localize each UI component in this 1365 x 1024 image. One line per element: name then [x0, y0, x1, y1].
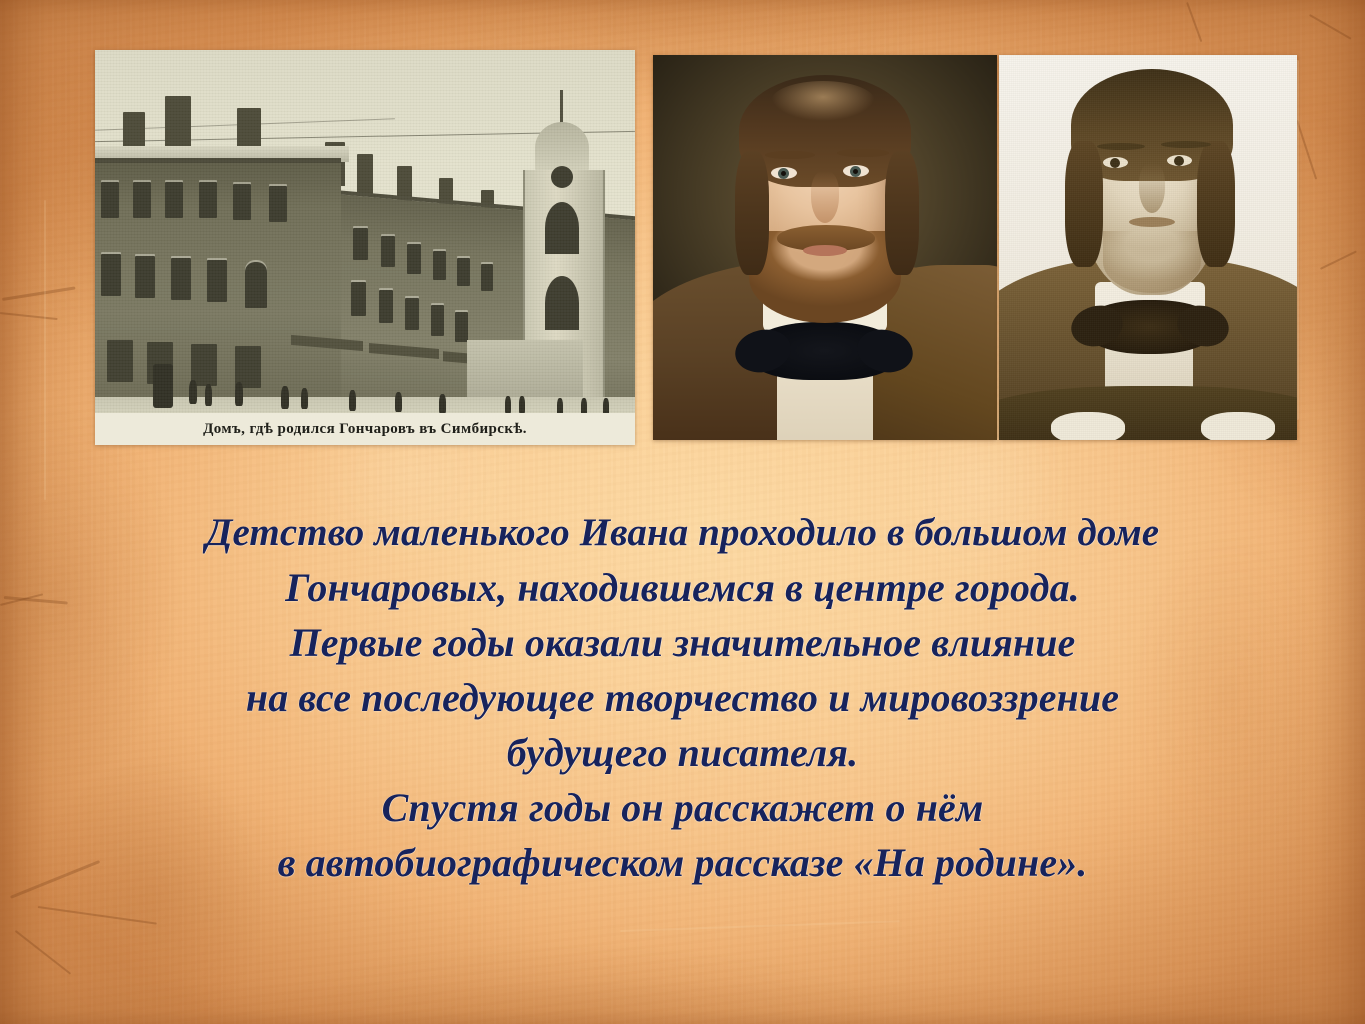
photo-film-grain [999, 55, 1297, 440]
portrait-eyebrow-right [837, 149, 889, 157]
paper-crease [44, 200, 46, 500]
portrait-hair-highlight [771, 81, 875, 121]
body-text-line: на все последующее творчество и мировозз… [60, 670, 1305, 725]
portrait-bow-tie [749, 322, 899, 380]
portrait-sideburn-right [885, 151, 919, 275]
sepia-photograph-goncharov [999, 55, 1297, 440]
body-text-line: будущего писателя. [60, 725, 1305, 780]
body-text-line: в автобиографическом рассказе «На родине… [60, 835, 1305, 890]
presentation-slide: Домъ, гдѣ родился Гончаровъ въ Симбирскѣ… [0, 0, 1365, 1024]
portrait-eyebrow-left [765, 151, 815, 159]
slide-body-text: Детство маленького Ивана проходило в бол… [60, 505, 1305, 890]
body-text-line: Детство маленького Ивана проходило в бол… [60, 505, 1305, 560]
postcard-film-grain [95, 50, 635, 445]
portrait-eye-left [771, 167, 797, 179]
portrait-eye-right [843, 165, 869, 177]
portrait-sideburn-left [735, 151, 769, 275]
historic-postcard-goncharov-house [95, 50, 635, 445]
portrait-nose [811, 171, 839, 223]
house-photo-caption: Домъ, гдѣ родился Гончаровъ въ Симбирскѣ… [95, 413, 635, 445]
body-text-line: Спустя годы он расскажет о нём [60, 780, 1305, 835]
body-text-line: Первые годы оказали значительное влияние [60, 615, 1305, 670]
portrait-mouth [803, 245, 847, 256]
painted-portrait-young-goncharov [653, 55, 997, 440]
body-text-line: Гончаровых, находившемся в центре города… [60, 560, 1305, 615]
